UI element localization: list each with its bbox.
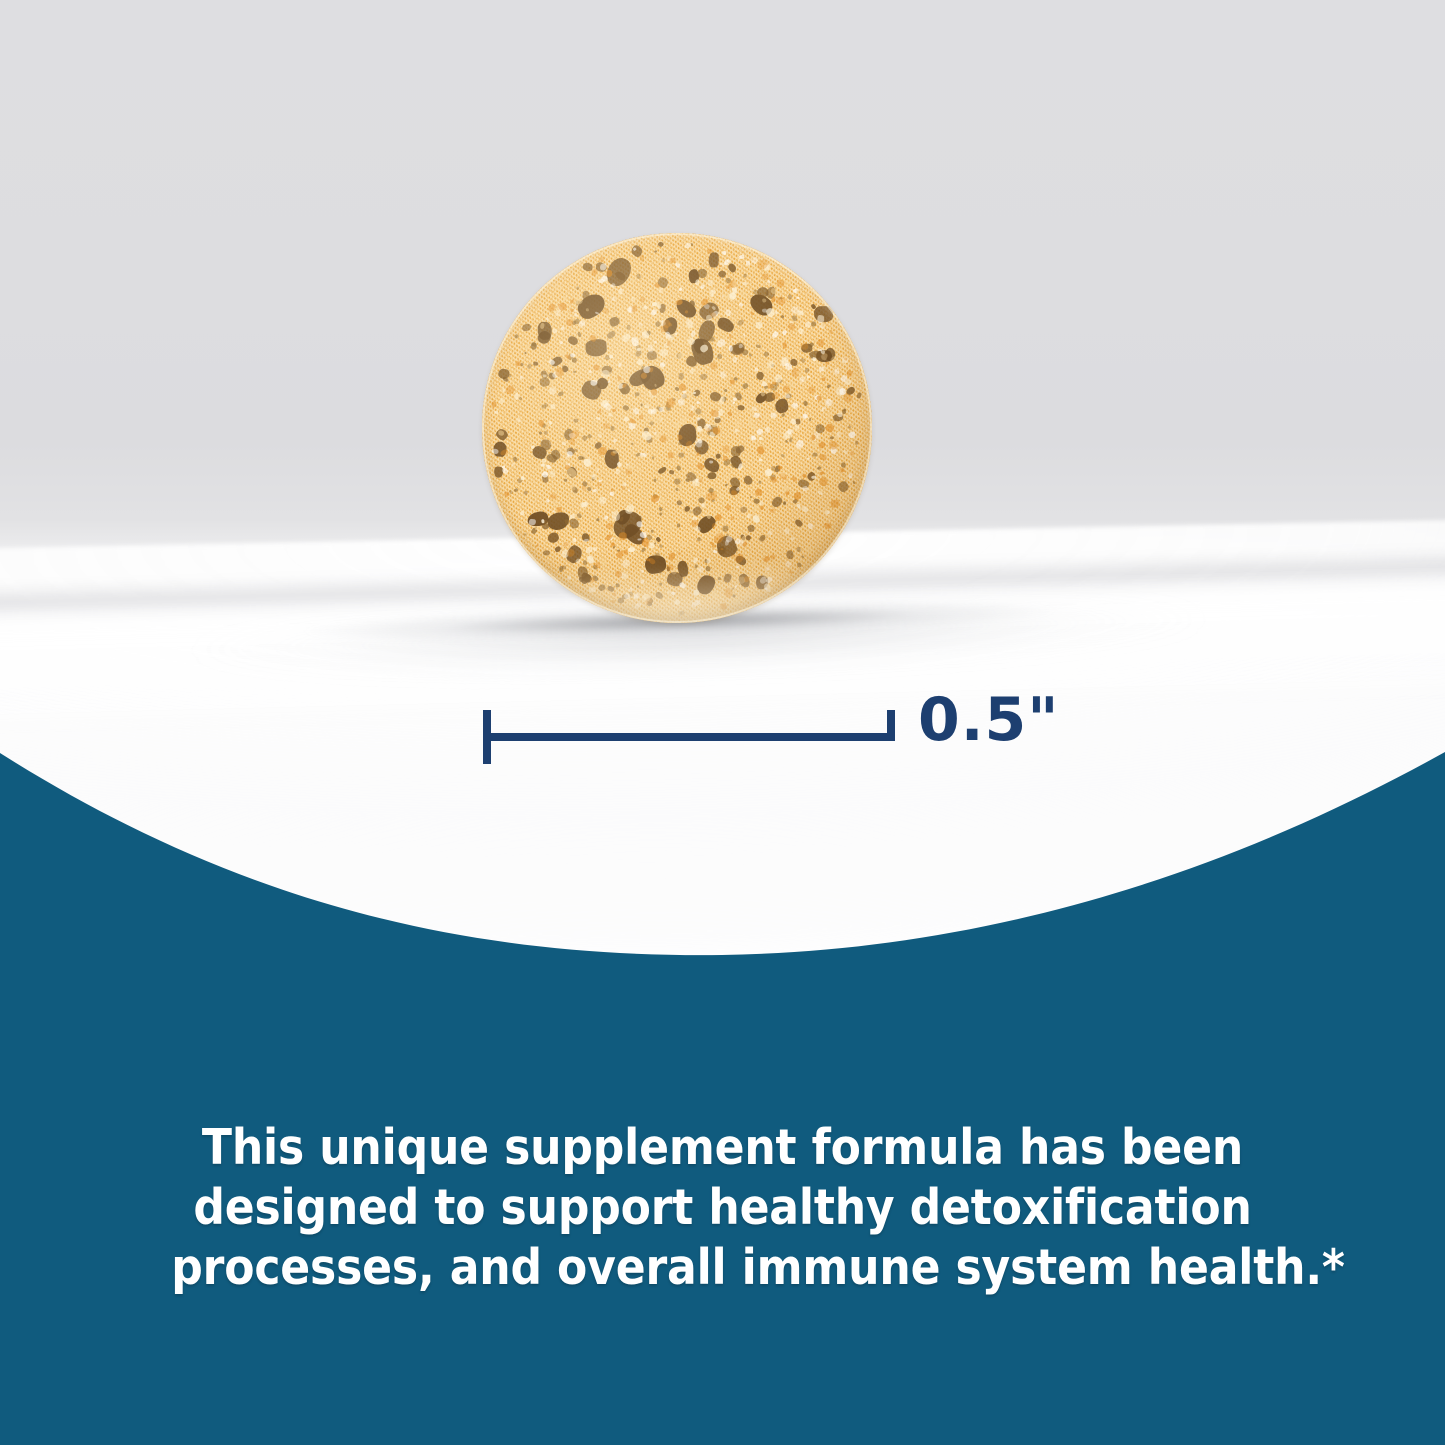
measure-label: 0.5" [918,685,1060,755]
supplement-tablet [477,228,877,628]
size-measurement-scale: 0.5" [478,700,1058,770]
headline-line-2: designed to support healthy detoxificati… [171,1178,1274,1238]
measure-bar [483,733,895,741]
headline-line-3: processes, and overall immune system hea… [171,1238,1274,1298]
product-size-infographic: 0.5" This unique supplement formula has … [0,0,1445,1445]
callout-headline: This unique supplement formula has been … [171,1118,1274,1298]
headline-line-1: This unique supplement formula has been [171,1118,1274,1178]
product-photo-scene: 0.5" [0,0,1445,980]
measure-tick-right [887,710,895,741]
